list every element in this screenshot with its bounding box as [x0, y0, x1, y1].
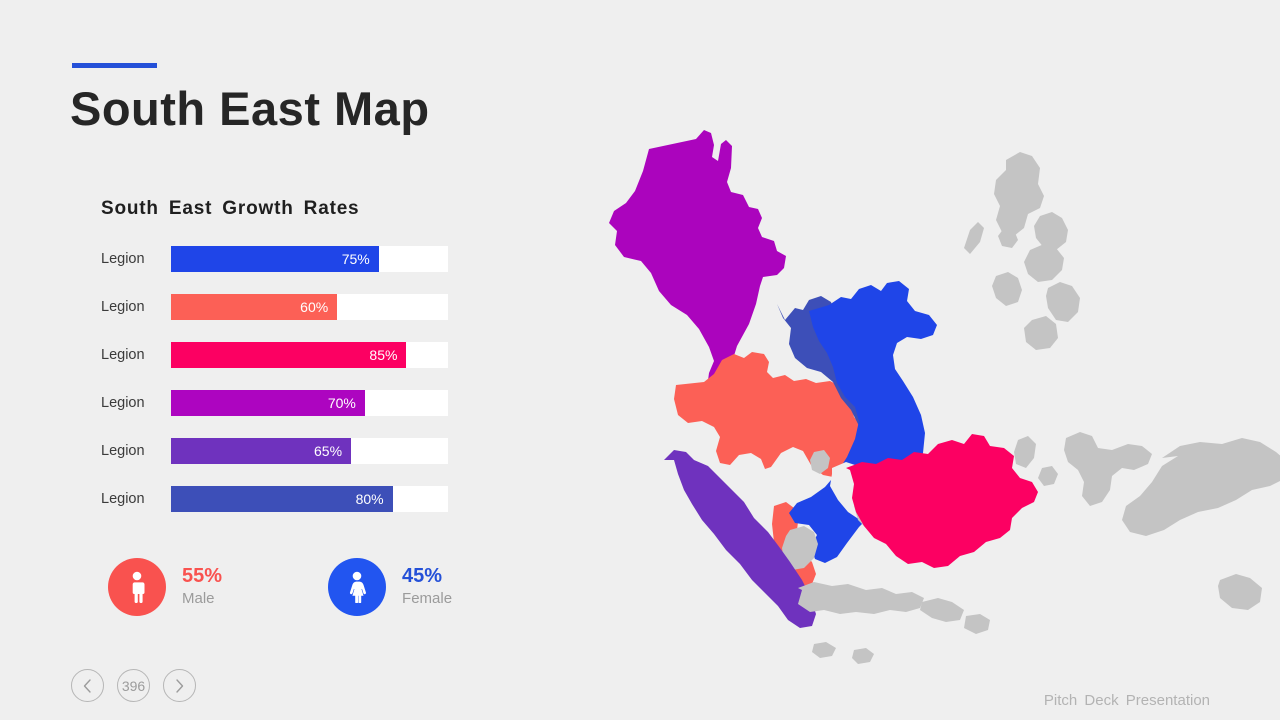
gender-stat-male: 55% Male: [108, 558, 222, 616]
bar-fill[interactable]: 60%: [171, 294, 337, 320]
footer-note: Pitch Deck Presentation: [1044, 692, 1210, 709]
chevron-left-icon: [82, 679, 93, 693]
bar-label: Legion: [101, 443, 171, 459]
bar-value: 80%: [356, 492, 384, 506]
gender-stat-female: 45% Female: [328, 558, 452, 616]
bar-track: 85%: [171, 342, 448, 368]
bar-value: 70%: [328, 396, 356, 410]
bar-fill[interactable]: 80%: [171, 486, 393, 512]
bar-label: Legion: [101, 251, 171, 267]
bar-value: 75%: [342, 252, 370, 266]
bar-track: 60%: [171, 294, 448, 320]
bar-fill[interactable]: 70%: [171, 390, 365, 416]
prev-slide-button[interactable]: [71, 669, 104, 702]
bar-row: Legion 65%: [101, 438, 481, 464]
south-east-asia-map: [600, 110, 1280, 680]
bar-fill[interactable]: 65%: [171, 438, 351, 464]
bar-label: Legion: [101, 491, 171, 507]
slide-number-badge: 396: [117, 669, 150, 702]
bar-row: Legion 75%: [101, 246, 481, 272]
female-category-label: Female: [402, 589, 452, 609]
bar-label: Legion: [101, 395, 171, 411]
bar-fill[interactable]: 85%: [171, 342, 406, 368]
bar-fill[interactable]: 75%: [171, 246, 379, 272]
female-figure-icon: [345, 571, 369, 603]
bar-value: 60%: [300, 300, 328, 314]
male-category-label: Male: [182, 589, 222, 609]
bar-label: Legion: [101, 347, 171, 363]
map-region-java[interactable]: [798, 582, 990, 664]
bar-row: Legion 80%: [101, 486, 481, 512]
chart-heading: South East Growth Rates: [101, 198, 481, 220]
bar-row: Legion 60%: [101, 294, 481, 320]
slide-number: 396: [122, 678, 145, 694]
bar-label: Legion: [101, 299, 171, 315]
female-percent: 45%: [402, 565, 452, 587]
female-icon-circle: [328, 558, 386, 616]
map-region-philippines[interactable]: [964, 152, 1080, 350]
bar-value: 85%: [369, 348, 397, 362]
gender-stats: 55% Male 45% Female: [108, 558, 452, 616]
bar-track: 65%: [171, 438, 448, 464]
bar-track: 75%: [171, 246, 448, 272]
female-text-block: 45% Female: [402, 565, 452, 609]
page-title: South East Map: [70, 78, 430, 140]
pagination: 396: [71, 669, 209, 702]
male-figure-icon: [125, 571, 149, 603]
bar-track: 70%: [171, 390, 448, 416]
male-text-block: 55% Male: [182, 565, 222, 609]
bar-track: 80%: [171, 486, 448, 512]
bar-row: Legion 85%: [101, 342, 481, 368]
title-accent-bar: [72, 63, 157, 68]
chevron-right-icon: [174, 679, 185, 693]
next-slide-button[interactable]: [163, 669, 196, 702]
bar-row: Legion 70%: [101, 390, 481, 416]
growth-rates-panel: South East Growth Rates Legion 75% Legio…: [101, 198, 481, 534]
male-icon-circle: [108, 558, 166, 616]
bar-value: 65%: [314, 444, 342, 458]
male-percent: 55%: [182, 565, 222, 587]
